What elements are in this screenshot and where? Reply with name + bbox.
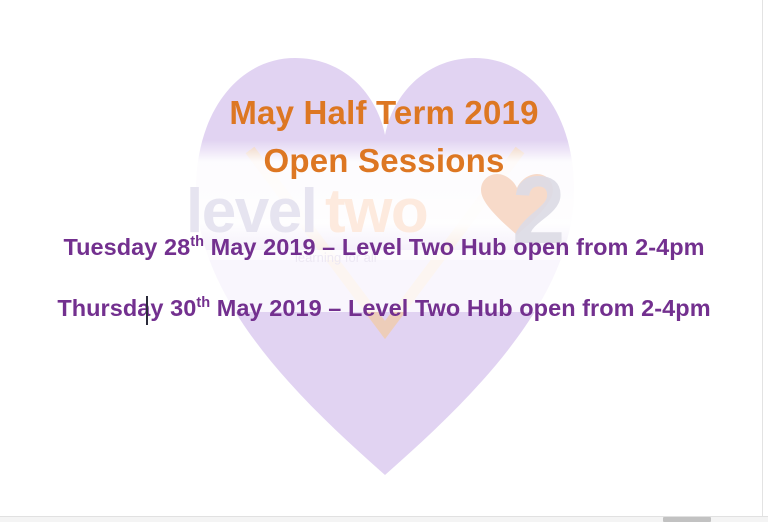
text-cursor-caret	[146, 296, 148, 325]
session-line-thursday: Thursday 30th May 2019 – Level Two Hub o…	[0, 295, 768, 322]
session-1-ordinal: th	[190, 234, 204, 250]
pane-right-border	[762, 0, 763, 517]
horizontal-scrollbar-track[interactable]	[0, 516, 768, 522]
slide-text-layer: May Half Term 2019 Open Sessions Tuesday…	[0, 0, 768, 522]
slide-title-line-2: Open Sessions	[0, 142, 768, 180]
session-2-prefix: Thursday 30	[57, 295, 196, 321]
slide-title-line-1: May Half Term 2019	[0, 94, 768, 132]
session-2-ordinal: th	[196, 295, 210, 311]
slide-canvas: 2 level two learning for all May Half Te…	[0, 0, 768, 522]
session-line-tuesday: Tuesday 28th May 2019 – Level Two Hub op…	[0, 234, 768, 261]
session-1-prefix: Tuesday 28	[63, 234, 190, 260]
horizontal-scrollbar-thumb[interactable]	[663, 517, 711, 522]
session-1-suffix: May 2019 – Level Two Hub open from 2-4pm	[204, 234, 704, 260]
session-2-suffix: May 2019 – Level Two Hub open from 2-4pm	[210, 295, 710, 321]
